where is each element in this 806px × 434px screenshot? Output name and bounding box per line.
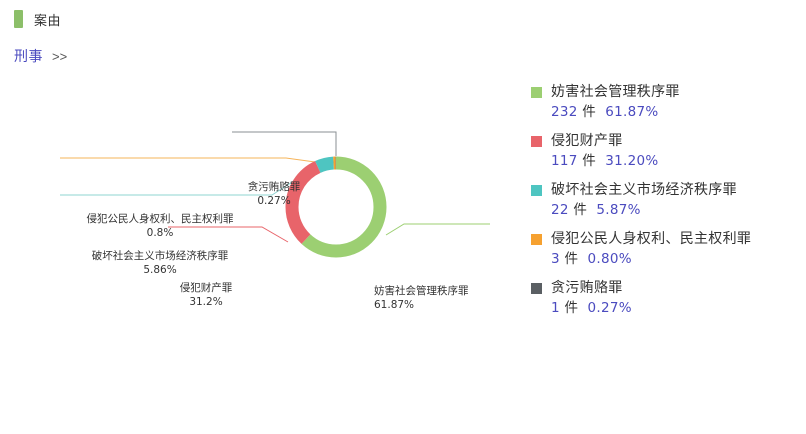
legend-count: 3	[551, 251, 560, 267]
legend-item[interactable]: 破坏社会主义市场经济秩序罪 22 件 5.87%	[531, 181, 801, 221]
legend-count: 117	[551, 153, 578, 169]
slice-label-name: 妨害社会管理秩序罪	[374, 284, 469, 298]
legend-unit: 件	[573, 202, 587, 218]
slice-label-name: 侵犯公民人身权利、民主权利罪	[58, 212, 262, 226]
legend-unit: 件	[564, 300, 578, 316]
pie-chart: 妨害社会管理秩序罪 61.87% 侵犯财产罪 31.2% 破坏社会主义市场经济秩…	[0, 72, 520, 372]
legend-count: 22	[551, 202, 569, 218]
legend-swatch-icon	[531, 283, 542, 294]
legend-swatch-icon	[531, 234, 542, 245]
legend-swatch-icon	[531, 185, 542, 196]
legend-item-label: 侵犯公民人身权利、民主权利罪	[551, 230, 751, 249]
legend-item-label: 贪污贿赂罪	[551, 279, 632, 298]
legend-percent: 31.20%	[605, 153, 658, 169]
legend-item[interactable]: 侵犯财产罪 117 件 31.20%	[531, 132, 801, 172]
legend-unit: 件	[582, 104, 596, 120]
legend-item-stat: 22 件 5.87%	[551, 200, 737, 221]
legend-item[interactable]: 贪污贿赂罪 1 件 0.27%	[531, 279, 801, 319]
breadcrumb-chevron-icon: >>	[52, 49, 67, 64]
slice-label-name: 破坏社会主义市场经济秩序罪	[58, 249, 262, 263]
legend-item-stat: 232 件 61.87%	[551, 102, 680, 123]
legend-item[interactable]: 妨害社会管理秩序罪 232 件 61.87%	[531, 83, 801, 123]
legend-percent: 5.87%	[596, 202, 640, 218]
legend-item-stat: 1 件 0.27%	[551, 298, 632, 319]
slice-label-1: 侵犯财产罪 31.2%	[160, 281, 252, 309]
legend-item-label: 侵犯财产罪	[551, 132, 659, 151]
legend-percent: 61.87%	[605, 104, 658, 120]
legend-percent: 0.27%	[587, 300, 631, 316]
legend-item-label: 妨害社会管理秩序罪	[551, 83, 680, 102]
slice-label-3: 侵犯公民人身权利、民主权利罪 0.8%	[58, 212, 262, 240]
legend-count: 232	[551, 104, 578, 120]
legend-count: 1	[551, 300, 560, 316]
slice-label-percent: 5.86%	[58, 263, 262, 277]
slice-label-4: 贪污贿赂罪 0.27%	[228, 180, 320, 208]
legend-item-label: 破坏社会主义市场经济秩序罪	[551, 181, 737, 200]
slice-label-percent: 0.27%	[228, 194, 320, 208]
breadcrumb-item-criminal[interactable]: 刑事	[14, 46, 43, 66]
legend-item-stat: 3 件 0.80%	[551, 249, 751, 270]
legend-swatch-icon	[531, 87, 542, 98]
slice-label-percent: 0.8%	[58, 226, 262, 240]
slice-label-2: 破坏社会主义市场经济秩序罪 5.86%	[58, 249, 262, 277]
legend-swatch-icon	[531, 136, 542, 147]
legend-item-stat: 117 件 31.20%	[551, 151, 659, 172]
legend-item[interactable]: 侵犯公民人身权利、民主权利罪 3 件 0.80%	[531, 230, 801, 270]
chart-legend: 妨害社会管理秩序罪 232 件 61.87% 侵犯财产罪 117 件 31.20…	[531, 83, 801, 328]
breadcrumb: 刑事 >>	[14, 45, 67, 67]
header-accent-marker	[14, 10, 23, 28]
page-title: 案由	[34, 10, 61, 29]
slice-label-name: 侵犯财产罪	[160, 281, 252, 295]
slice-label-name: 贪污贿赂罪	[228, 180, 320, 194]
slice-label-percent: 61.87%	[374, 298, 469, 312]
legend-unit: 件	[564, 251, 578, 267]
slice-label-0: 妨害社会管理秩序罪 61.87%	[374, 284, 469, 312]
slice-label-percent: 31.2%	[160, 295, 252, 309]
panel-header: 案由	[0, 0, 806, 38]
legend-percent: 0.80%	[587, 251, 631, 267]
legend-unit: 件	[582, 153, 596, 169]
